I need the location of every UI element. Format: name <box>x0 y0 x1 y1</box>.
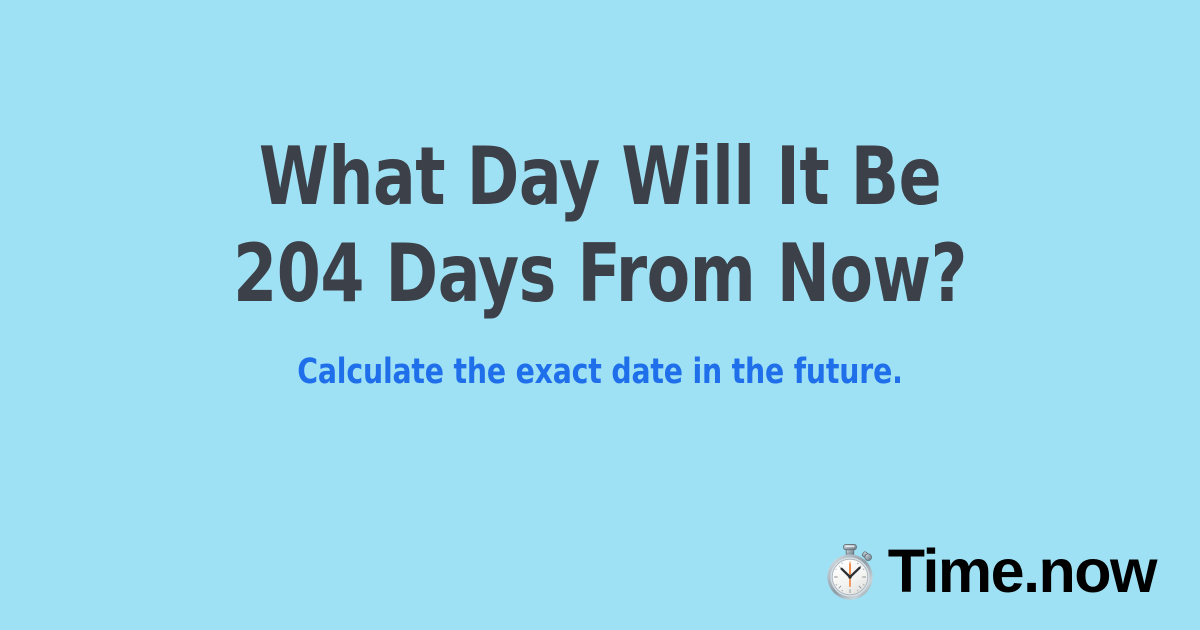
headline-line-2: 204 Days From Now? <box>72 225 1128 322</box>
brand-name: Time.now <box>888 541 1156 602</box>
page-title: What Day Will It Be 204 Days From Now? <box>0 128 1200 322</box>
share-card: What Day Will It Be 204 Days From Now? C… <box>0 0 1200 630</box>
headline-line-1: What Day Will It Be <box>72 128 1128 225</box>
brand-logo[interactable]: Time.now <box>824 541 1156 602</box>
stopwatch-icon <box>824 543 876 601</box>
subtitle: Calculate the exact date in the future. <box>60 352 1140 392</box>
